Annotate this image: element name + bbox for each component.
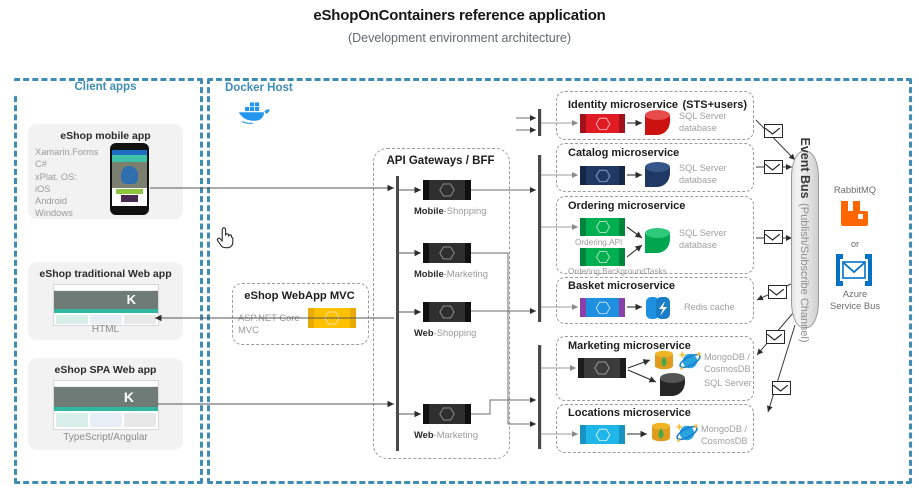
envelope-icon <box>764 124 783 138</box>
event-bus-text: Event Bus (Publish/Subscribe Channel) <box>796 137 814 342</box>
envelope-icon <box>766 330 785 344</box>
event-bus-cylinder[interactable]: Event Bus (Publish/Subscribe Channel) <box>791 151 819 328</box>
broker-separator-label: or <box>822 238 888 250</box>
envelope-icon <box>772 381 791 395</box>
azure-service-bus-icon <box>836 254 872 286</box>
envelope-icon <box>764 160 783 174</box>
connector-lines <box>0 0 919 497</box>
rabbitmq-icon <box>838 197 870 227</box>
envelope-icon <box>764 230 783 244</box>
rabbitmq-label: RabbitMQ <box>822 184 888 196</box>
azure-service-bus-label: Azure Service Bus <box>818 288 892 311</box>
envelope-icon <box>768 285 787 299</box>
diagram-canvas: eShopOnContainers reference application … <box>0 0 919 497</box>
